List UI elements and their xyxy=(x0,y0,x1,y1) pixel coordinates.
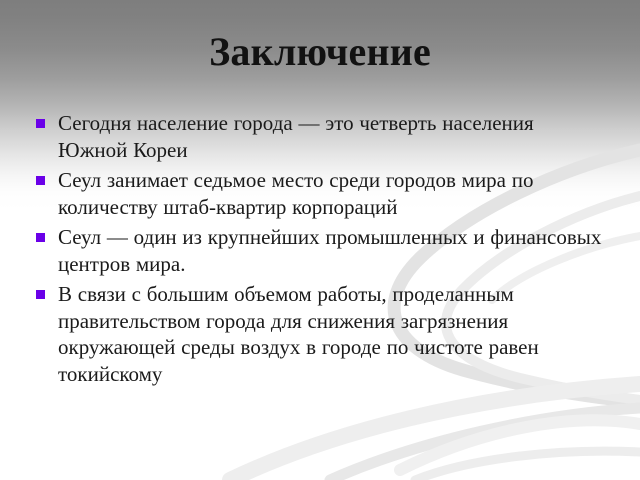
list-item-text: Сеул занимает седьмое место среди городо… xyxy=(58,167,608,220)
square-bullet-icon xyxy=(36,290,45,299)
list-item: Сеул занимает седьмое место среди городо… xyxy=(36,167,608,220)
list-item: Сегодня население города — это четверть … xyxy=(36,110,608,163)
presentation-slide: Заключение Сегодня население города — эт… xyxy=(0,0,640,480)
square-bullet-icon xyxy=(36,233,45,242)
list-item: Сеул — один из крупнейших промышленных и… xyxy=(36,224,608,277)
square-bullet-icon xyxy=(36,119,45,128)
list-item-text: В связи с большим объемом работы, продел… xyxy=(58,281,608,387)
bullet-list: Сегодня население города — это четверть … xyxy=(36,110,608,391)
list-item-text: Сеул — один из крупнейших промышленных и… xyxy=(58,224,608,277)
list-item: В связи с большим объемом работы, продел… xyxy=(36,281,608,387)
list-item-text: Сегодня население города — это четверть … xyxy=(58,110,608,163)
slide-title: Заключение xyxy=(0,28,640,76)
square-bullet-icon xyxy=(36,176,45,185)
